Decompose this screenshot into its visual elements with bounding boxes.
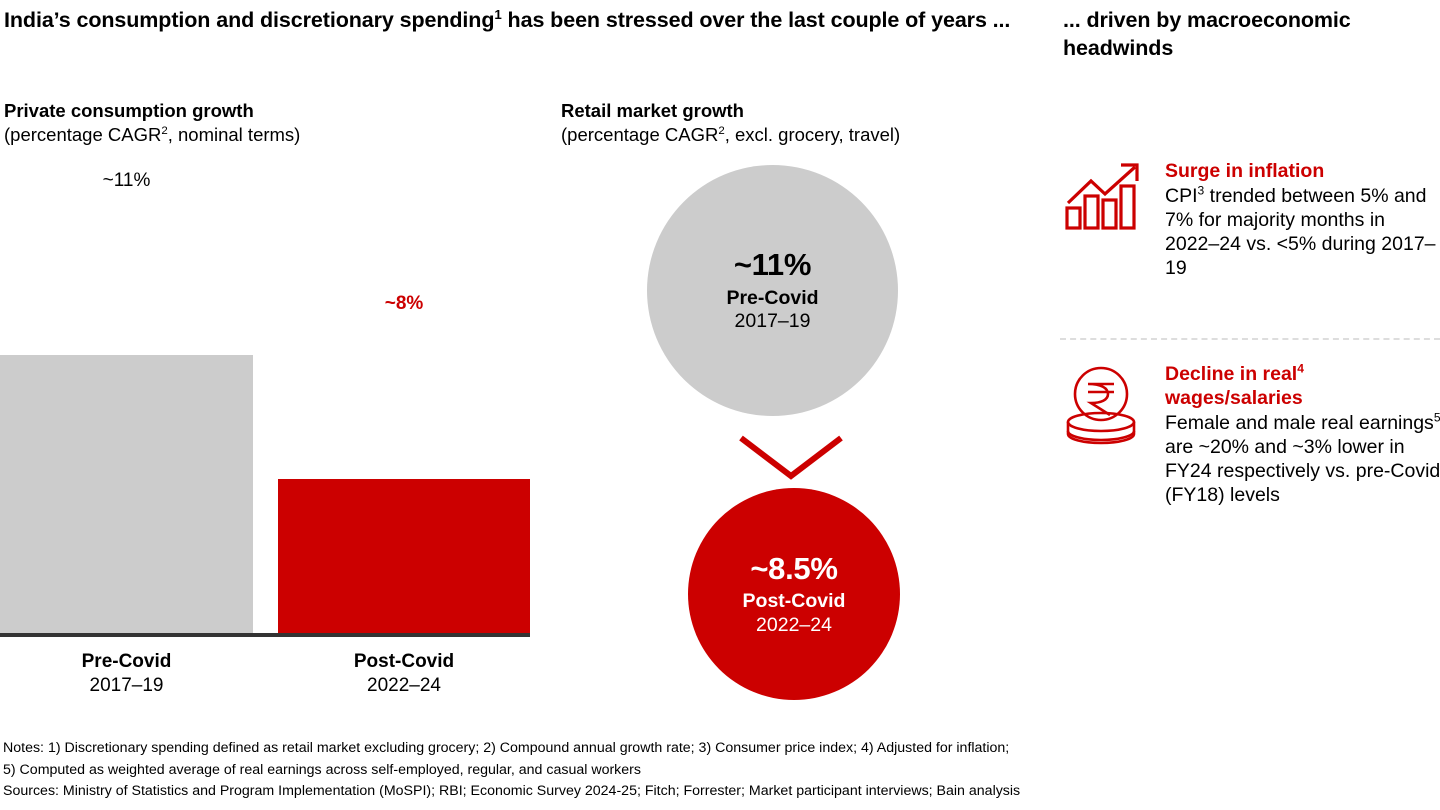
driver-item-inflation: Surge in inflation CPI3 trended between … — [1063, 160, 1440, 280]
bubble-chart-unit: (percentage CAGR2, excl. grocery, travel… — [561, 123, 900, 147]
driver-body-real-wages-footnote-marker: 5 — [1434, 410, 1440, 424]
bubble-unit-part2: , excl. grocery, travel) — [725, 124, 900, 145]
driver-heading-real-wages-footnote-marker: 4 — [1297, 362, 1304, 376]
bar-category-name-pre-covid: Pre-Covid — [0, 650, 253, 674]
driver-body-real-wages-part1: Female and male real earnings — [1165, 412, 1434, 434]
bar-unit-part2: , nominal terms) — [168, 124, 301, 145]
private-consumption-bar-chart: ~11% ~8% Pre-Covid 2017–19 Post-Covid 20… — [0, 160, 545, 690]
rupee-coin-stack-icon — [1063, 363, 1165, 462]
bar-category-pre-covid: Pre-Covid 2017–19 — [0, 650, 253, 698]
bar-pre-covid — [0, 355, 253, 633]
bubble-value-pre-covid: ~11% — [734, 247, 811, 283]
driver-body-inflation-part2: trended between 5% and 7% for majority m… — [1165, 185, 1436, 280]
bar-chart-title: Private consumption growth — [4, 99, 254, 123]
page-title-right: ... driven by macroeconomic headwinds — [1063, 6, 1440, 63]
driver-body-inflation: CPI3 trended between 5% and 7% for major… — [1165, 184, 1440, 281]
bar-unit-part1: (percentage CAGR — [4, 124, 161, 145]
bar-category-name-post-covid: Post-Covid — [278, 650, 530, 674]
driver-text-real-wages: Decline in real4 wages/salaries Female a… — [1165, 363, 1440, 507]
bubble-label-post-covid: Post-Covid — [743, 590, 846, 613]
bar-chart-rising-arrow-icon — [1063, 160, 1165, 239]
bubble-value-post-covid: ~8.5% — [750, 551, 837, 587]
bubble-unit-part1: (percentage CAGR — [561, 124, 718, 145]
page-title-left: India’s consumption and discretionary sp… — [4, 6, 1014, 34]
driver-text-inflation: Surge in inflation CPI3 trended between … — [1165, 160, 1440, 280]
downward-chevron-icon — [735, 432, 847, 484]
footnotes-block: Notes: 1) Discretionary spending defined… — [3, 738, 1440, 803]
headline-left-part2: has been stressed over the last couple o… — [502, 8, 1011, 32]
footnote-line-notes-2: 5) Computed as weighted average of real … — [3, 760, 1440, 782]
bubble-post-covid: ~8.5% Post-Covid 2022–24 — [688, 488, 900, 700]
driver-heading-real-wages-line2: wages/salaries — [1165, 387, 1303, 409]
driver-heading-real-wages: Decline in real4 wages/salaries — [1165, 363, 1440, 411]
driver-heading-real-wages-line1: Decline in real — [1165, 363, 1297, 385]
driver-divider — [1060, 338, 1440, 340]
bubble-label-pre-covid: Pre-Covid — [726, 287, 818, 310]
bar-category-years-pre-covid: 2017–19 — [0, 674, 253, 698]
slide-canvas: India’s consumption and discretionary sp… — [0, 0, 1440, 810]
bubble-years-pre-covid: 2017–19 — [735, 310, 811, 333]
footnote-line-sources: Sources: Ministry of Statistics and Prog… — [3, 781, 1440, 803]
driver-body-inflation-part1: CPI — [1165, 185, 1198, 207]
headline-left-part1: India’s consumption and discretionary sp… — [4, 8, 494, 32]
bubble-years-post-covid: 2022–24 — [756, 614, 832, 637]
x-axis-line — [0, 633, 530, 637]
bar-chart-unit: (percentage CAGR2, nominal terms) — [4, 123, 300, 147]
bar-category-years-post-covid: 2022–24 — [278, 674, 530, 698]
bubble-pre-covid: ~11% Pre-Covid 2017–19 — [647, 165, 898, 416]
driver-heading-inflation: Surge in inflation — [1165, 160, 1440, 184]
headline-left-footnote-marker: 1 — [494, 7, 501, 22]
driver-body-real-wages: Female and male real earnings5 are ~20% … — [1165, 411, 1440, 508]
bubble-chart-title: Retail market growth — [561, 99, 744, 123]
bar-value-label-pre-covid: ~11% — [0, 170, 253, 192]
bar-category-post-covid: Post-Covid 2022–24 — [278, 650, 530, 698]
footnote-line-notes-1: Notes: 1) Discretionary spending defined… — [3, 738, 1440, 760]
bar-value-label-post-covid: ~8% — [278, 293, 530, 315]
driver-item-real-wages: Decline in real4 wages/salaries Female a… — [1063, 363, 1440, 507]
driver-body-real-wages-part2: are ~20% and ~3% lower in FY24 respectiv… — [1165, 436, 1440, 506]
bar-post-covid — [278, 479, 530, 633]
